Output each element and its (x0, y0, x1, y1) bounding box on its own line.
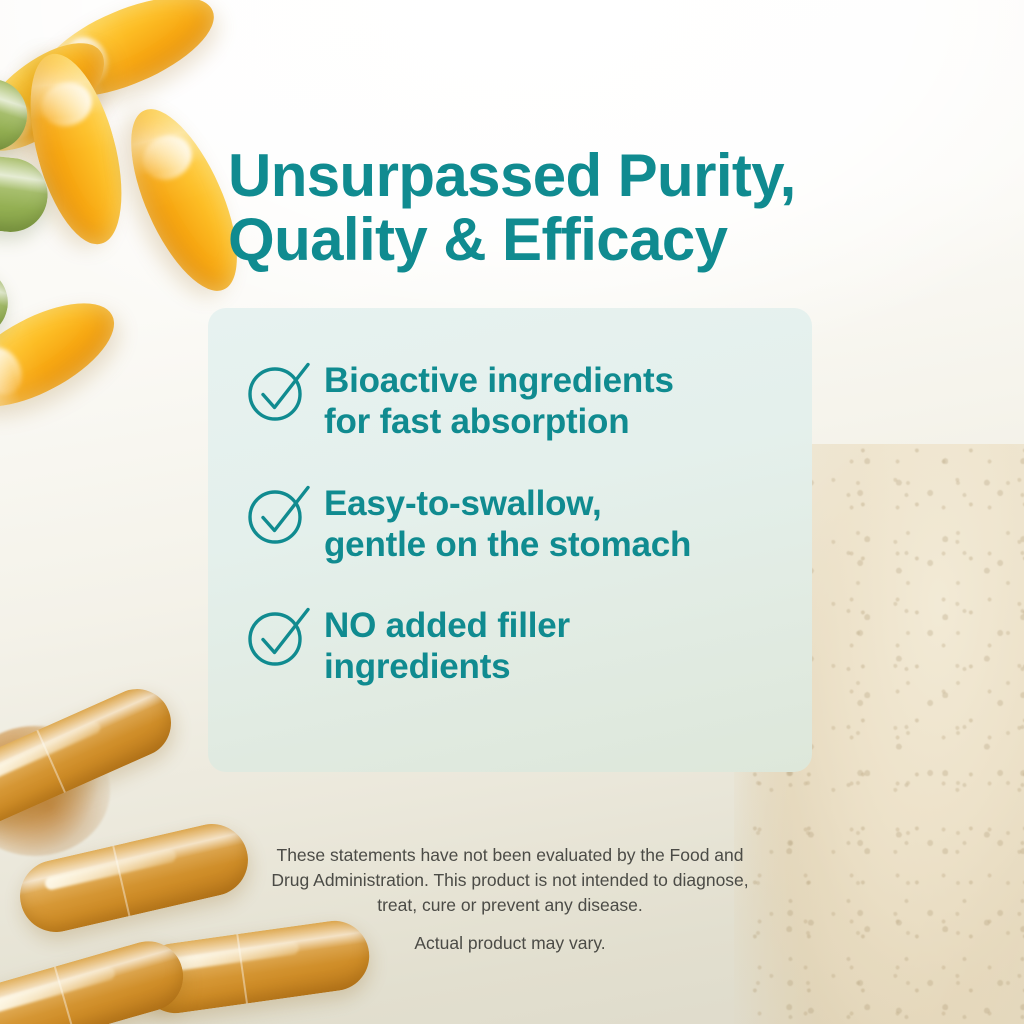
benefit-item: Easy-to-swallow, gentle on the stomach (244, 479, 788, 566)
benefits-list: Bioactive ingredients for fast absorptio… (244, 356, 788, 688)
benefits-card: Bioactive ingredients for fast absorptio… (208, 308, 812, 772)
fda-disclaimer-line-3: treat, cure or prevent any disease. (205, 893, 815, 918)
product-benefits-poster: Unsurpassed Purity, Quality & Efficacy B… (0, 0, 1024, 1024)
benefit-line-2: gentle on the stomach (324, 524, 691, 565)
benefit-line-1: Easy-to-swallow, (324, 483, 691, 524)
benefit-text: Bioactive ingredients for fast absorptio… (324, 356, 674, 443)
benefit-text: Easy-to-swallow, gentle on the stomach (324, 479, 691, 566)
benefit-line-1: NO added filler (324, 605, 570, 646)
softgel-capsule-icon (0, 23, 122, 171)
page-title-line-1: Unsurpassed Purity, (228, 144, 828, 208)
product-variance-note: Actual product may vary. (205, 931, 815, 956)
page-title: Unsurpassed Purity, Quality & Efficacy (228, 144, 828, 271)
check-circle-icon (244, 358, 316, 424)
softgel-capsule-icon (27, 0, 227, 117)
benefit-line-2: for fast absorption (324, 401, 674, 442)
benefit-item: NO added filler ingredients (244, 601, 788, 688)
benefit-text: NO added filler ingredients (324, 601, 570, 688)
fda-disclaimer-line-1: These statements have not been evaluated… (205, 843, 815, 868)
spilled-turmeric-powder (0, 726, 110, 856)
green-capsule-icon (0, 138, 51, 235)
softgel-capsule-icon (13, 44, 139, 254)
softgel-capsule-icon (0, 282, 129, 427)
turmeric-capsule-icon (0, 933, 191, 1024)
green-capsule-icon (0, 29, 36, 160)
benefit-line-1: Bioactive ingredients (324, 360, 674, 401)
fda-disclaimer: These statements have not been evaluated… (205, 843, 815, 918)
page-title-line-2: Quality & Efficacy (228, 208, 828, 272)
green-capsule-icon (0, 225, 15, 345)
benefit-line-2: ingredients (324, 646, 570, 687)
check-circle-icon (244, 603, 316, 669)
benefit-item: Bioactive ingredients for fast absorptio… (244, 356, 788, 443)
check-circle-icon (244, 481, 316, 547)
turmeric-capsule-icon (0, 678, 182, 834)
fda-disclaimer-line-2: Drug Administration. This product is not… (205, 868, 815, 893)
